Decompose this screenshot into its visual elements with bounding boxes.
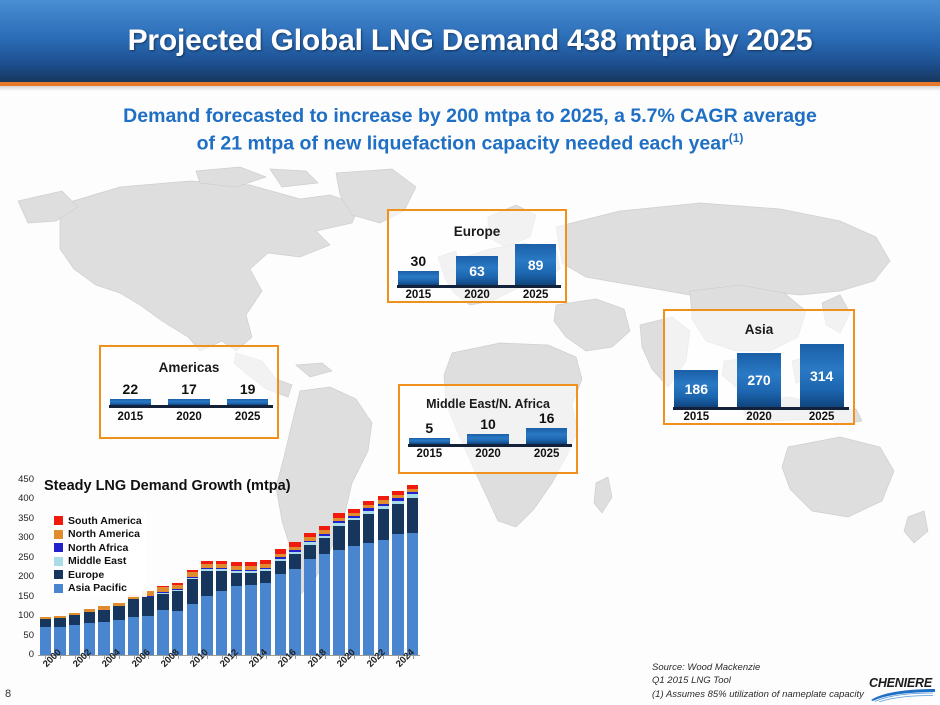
chart-bar-segment (98, 610, 109, 622)
region-bar-value: 10 (467, 417, 508, 431)
chart-bar-segment (142, 597, 153, 616)
region-year-label: 2015 (389, 289, 448, 301)
region-bars-americas: 221719 (101, 381, 277, 405)
chart-bar-segment (245, 573, 256, 585)
cheniere-swoosh-icon (871, 689, 935, 702)
chart-bar-segment (260, 571, 271, 583)
chart-bar-column (216, 561, 227, 655)
chart-legend: South AmericaNorth AmericaNorth AfricaMi… (52, 512, 147, 597)
legend-item: Middle East (54, 555, 142, 569)
region-bar-value: 186 (685, 382, 708, 396)
chart-bar-segment (245, 585, 256, 655)
chart-bar-segment (348, 546, 359, 655)
chart-bar-segment (304, 559, 315, 655)
region-bar: 63 (456, 256, 497, 285)
region-bar-value: 89 (528, 258, 544, 272)
region-year-label: 2020 (728, 411, 791, 423)
chart-bar-column (348, 509, 359, 655)
chart-bar-column (260, 560, 271, 655)
chart-bar-segment (40, 619, 51, 627)
legend-label: Europe (68, 569, 104, 581)
chart-bar-column (157, 586, 168, 655)
region-title-americas: Americas (101, 360, 277, 375)
region-bars-middle-east-n-africa: 51016 (400, 418, 576, 444)
chart-bar-column (363, 501, 374, 655)
chart-y-tick-label: 50 (0, 631, 34, 641)
region-bar-value: 30 (398, 254, 439, 268)
cheniere-logo: CHENIERE (869, 676, 935, 702)
region-year-label: 2020 (160, 411, 219, 423)
chart-y-tick-label: 400 (0, 494, 34, 504)
chart-bar-segment (187, 604, 198, 655)
region-bar-column: 89 (515, 244, 556, 285)
region-title-europe: Europe (389, 224, 565, 239)
chart-bar-segment (407, 533, 418, 655)
legend-item: South America (54, 514, 142, 528)
region-bars-asia: 186270314 (665, 339, 853, 407)
chart-bar-segment (128, 599, 139, 617)
region-bar: 314 (800, 344, 844, 407)
region-baseline (673, 407, 849, 410)
region-box-americas: Americas 221719201520202025 (99, 345, 279, 439)
region-bar-column: 63 (456, 256, 497, 285)
header-shadow (0, 86, 940, 91)
chart-bar-segment (319, 538, 330, 554)
chart-bar-segment (319, 554, 330, 656)
region-baseline (109, 405, 273, 408)
legend-swatch (54, 543, 63, 552)
chart-bar-segment (289, 569, 300, 655)
chart-bar-segment (392, 504, 403, 534)
region-year-label: 2020 (448, 289, 507, 301)
chart-bar-segment (333, 550, 344, 655)
chart-bar-column (69, 613, 80, 655)
chart-bar-segment (304, 545, 315, 560)
slide-header: Projected Global LNG Demand 438 mtpa by … (0, 0, 940, 82)
region-bar-value: 16 (526, 411, 567, 425)
legend-item: North Africa (54, 541, 142, 555)
region-bar-value: 270 (747, 373, 770, 387)
chart-bar-segment (157, 594, 168, 611)
chart-y-tick-label: 450 (0, 475, 34, 485)
legend-swatch (54, 516, 63, 525)
chart-bar-segment (333, 526, 344, 550)
subtitle-line-1: Demand forecasted to increase by 200 mtp… (40, 103, 900, 130)
legend-label: North Africa (68, 542, 128, 554)
chart-bar-column (231, 562, 242, 655)
chart-bar-segment (69, 625, 80, 655)
chart-bar-column (142, 591, 153, 655)
chart-bar-segment (216, 591, 227, 655)
region-bar-value: 17 (168, 382, 209, 396)
region-bar-value: 19 (227, 382, 268, 396)
chart-bar-column (333, 513, 344, 655)
source-line-1: Source: Wood Mackenzie (652, 661, 864, 674)
region-bar-column: 10 (467, 434, 508, 444)
chart-bar-segment (378, 540, 389, 656)
chart-bar-column (128, 595, 139, 655)
region-bar: 89 (515, 244, 556, 285)
chart-bar-column (201, 561, 212, 655)
chart-bar-column (40, 617, 51, 655)
chart-bar-segment (260, 583, 271, 655)
chart-bar-segment (275, 574, 286, 655)
region-year-label: 2015 (101, 411, 160, 423)
region-title-asia: Asia (665, 322, 853, 337)
region-year-label: 2025 (506, 289, 565, 301)
chart-y-tick-label: 150 (0, 592, 34, 602)
region-box-asia: Asia 186270314201520202025 (663, 309, 855, 425)
subtitle-footnote-marker: (1) (729, 131, 744, 145)
chart-bar-segment (54, 618, 65, 627)
chart-y-tick-label: 250 (0, 553, 34, 563)
chart-bar-segment (113, 606, 124, 620)
region-bar-column: 30 (398, 271, 439, 285)
region-title-middle-east-n-africa: Middle East/N. Africa (400, 397, 576, 411)
chart-bar-column (407, 485, 418, 655)
chart-bar-column (289, 542, 300, 655)
legend-label: North America (68, 528, 140, 540)
lng-demand-chart: Steady LNG Demand Growth (mtpa) 05010015… (0, 470, 445, 695)
chart-bar-column (319, 526, 330, 655)
region-bar-column: 16 (526, 428, 567, 444)
chart-y-tick-label: 0 (0, 650, 34, 660)
chart-bar-column (275, 549, 286, 655)
chart-bar-segment (363, 514, 374, 543)
legend-swatch (54, 584, 63, 593)
legend-item: North America (54, 528, 142, 542)
page-title: Projected Global LNG Demand 438 mtpa by … (128, 24, 813, 58)
region-bar: 186 (674, 370, 718, 407)
chart-y-tick-label: 350 (0, 514, 34, 524)
region-year-label: 2015 (665, 411, 728, 423)
region-bar-value: 314 (810, 369, 833, 383)
chart-bar-segment (128, 617, 139, 655)
region-bar: 270 (737, 353, 781, 407)
chart-bar-segment (348, 520, 359, 546)
page-number: 8 (5, 688, 11, 700)
chart-bar-segment (231, 573, 242, 585)
region-bar (467, 434, 508, 444)
chart-bar-segment (172, 591, 183, 612)
legend-item: Asia Pacific (54, 582, 142, 596)
chart-bar-segment (84, 612, 95, 623)
region-year-label: 2025 (218, 411, 277, 423)
region-year-label: 2015 (400, 448, 459, 460)
chart-bar-segment (201, 571, 212, 596)
region-bar-value: 22 (110, 382, 151, 396)
region-baseline (397, 285, 561, 288)
chart-bar-segment (69, 615, 80, 625)
chart-bar-segment (157, 610, 168, 655)
chart-y-tick-label: 100 (0, 611, 34, 621)
chart-bar-segment (363, 543, 374, 655)
chart-bar-segment (216, 571, 227, 590)
legend-swatch (54, 570, 63, 579)
legend-label: Middle East (68, 555, 126, 567)
chart-y-tick-label: 200 (0, 572, 34, 582)
chart-bar-column (392, 491, 403, 655)
region-bar-column: 186 (674, 370, 718, 407)
chart-bar-segment (231, 586, 242, 655)
region-bar-value: 63 (469, 264, 485, 278)
chart-y-tick-label: 300 (0, 533, 34, 543)
chart-bar-segment (275, 561, 286, 573)
region-bar-value: 5 (409, 421, 450, 435)
source-line-3: (1) Assumes 85% utilization of nameplate… (652, 688, 864, 701)
region-year-label: 2025 (517, 448, 576, 460)
subtitle: Demand forecasted to increase by 200 mtp… (40, 103, 900, 157)
source-line-2: Q1 2015 LNG Tool (652, 674, 864, 687)
region-bar (526, 428, 567, 444)
chart-bar-segment (187, 579, 198, 604)
chart-bar-column (245, 562, 256, 655)
region-box-europe: Europe 306389201520202025 (387, 209, 567, 303)
region-year-label: 2020 (459, 448, 518, 460)
chart-bar-column (187, 570, 198, 656)
chart-bar-segment (40, 627, 51, 655)
chart-bar-segment (289, 554, 300, 569)
legend-label: South America (68, 515, 142, 527)
legend-swatch (54, 530, 63, 539)
region-bar-column: 270 (737, 353, 781, 407)
chart-bar-segment (392, 534, 403, 655)
legend-item: Europe (54, 568, 142, 582)
subtitle-line-2: of 21 mtpa of new liquefaction capacity … (40, 130, 900, 157)
chart-bar-column (172, 583, 183, 655)
region-bar-column: 314 (800, 344, 844, 407)
chart-bar-segment (98, 622, 109, 655)
source-note: Source: Wood Mackenzie Q1 2015 LNG Tool … (652, 661, 864, 701)
chart-bar-segment (407, 498, 418, 533)
chart-bar-column (98, 606, 109, 655)
region-bars-europe: 306389 (389, 239, 565, 285)
region-box-middle-east-n-africa: Middle East/N. Africa 51016201520202025 (398, 384, 578, 474)
legend-label: Asia Pacific (68, 582, 127, 594)
slide-root: Projected Global LNG Demand 438 mtpa by … (0, 0, 940, 705)
region-year-label: 2025 (790, 411, 853, 423)
region-bar (398, 271, 439, 285)
chart-bar-column (378, 496, 389, 655)
region-baseline (408, 444, 572, 447)
legend-swatch (54, 557, 63, 566)
subtitle-line-2-text: of 21 mtpa of new liquefaction capacity … (197, 132, 729, 154)
cheniere-logo-text: CHENIERE (869, 676, 932, 690)
chart-bar-segment (378, 509, 389, 539)
chart-y-axis: 050100150200250300350400450 (0, 470, 34, 660)
chart-bar-column (304, 533, 315, 655)
